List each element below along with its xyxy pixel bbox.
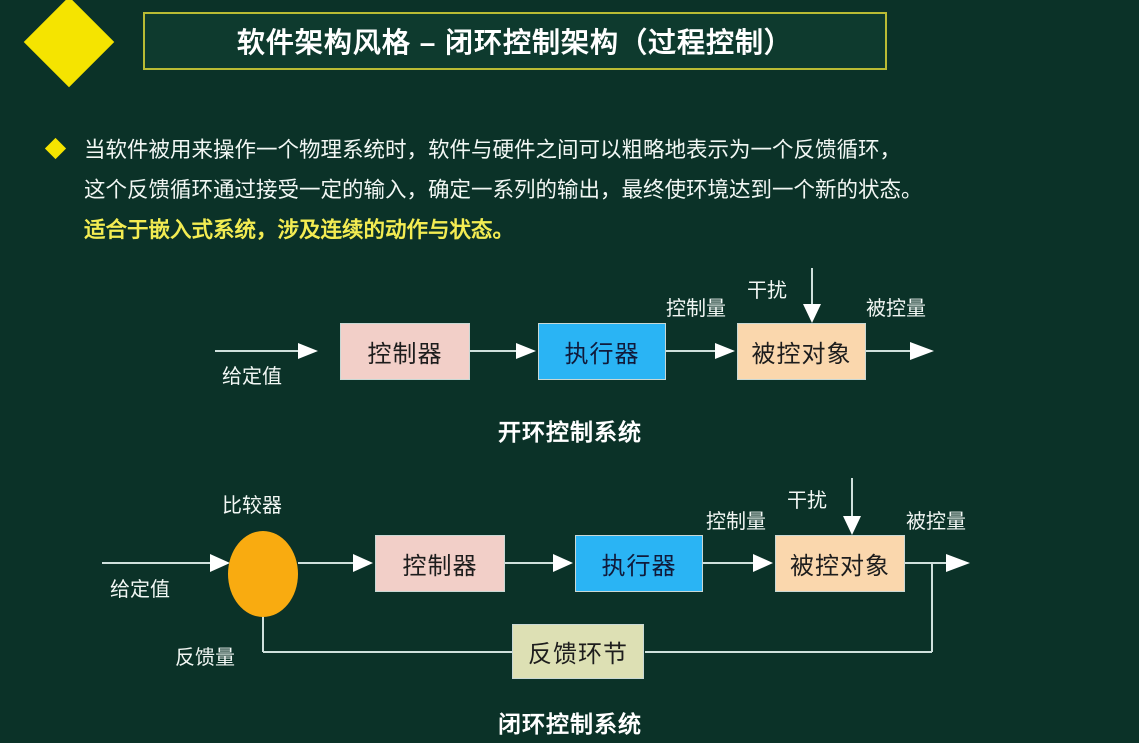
label-output: 被控量 — [906, 505, 966, 534]
paragraph-lines: 当软件被用来操作一个物理系统时，软件与硬件之间可以粗略地表示为一个反馈循环， 这… — [84, 130, 1118, 250]
slide-title-bar: 软件架构风格 – 闭环控制架构（过程控制） — [0, 6, 900, 78]
comparator-node — [228, 531, 298, 617]
arrowhead-output — [910, 342, 934, 360]
label-control-variable: 控制量 — [706, 505, 766, 534]
arrowhead-output — [946, 554, 970, 572]
closed-loop-diagram: 控制器 执行器 被控对象 反馈环节 比较器 给定值 控制量 干扰 被控量 反馈量… — [0, 468, 1139, 743]
box-plant-label: 被控对象 — [790, 546, 890, 581]
label-disturbance: 干扰 — [787, 484, 827, 513]
arrowhead-disturbance — [843, 516, 861, 535]
box-actuator-label: 执行器 — [602, 546, 677, 581]
open-loop-caption: 开环控制系统 — [498, 413, 642, 447]
box-actuator-label: 执行器 — [565, 334, 640, 369]
label-feedback-variable: 反馈量 — [175, 641, 235, 670]
arrowhead-controller-actuator — [553, 554, 573, 572]
label-control-variable: 控制量 — [666, 292, 726, 321]
bullet-paragraph: 当软件被用来操作一个物理系统时，软件与硬件之间可以粗略地表示为一个反馈循环， 这… — [48, 130, 1118, 250]
arrowhead-actuator-plant — [753, 554, 773, 572]
label-disturbance: 干扰 — [747, 274, 787, 303]
closed-loop-wires — [0, 468, 1139, 743]
paragraph-line-3: 适合于嵌入式系统，涉及连续的动作与状态。 — [84, 210, 1118, 250]
label-input: 给定值 — [110, 573, 170, 602]
diamond-bullet-icon — [45, 138, 66, 159]
box-feedback-element: 反馈环节 — [512, 624, 644, 679]
arrowhead-input — [210, 554, 230, 572]
title-box: 软件架构风格 – 闭环控制架构（过程控制） — [143, 12, 887, 70]
arrowhead-disturbance — [803, 304, 821, 323]
box-plant: 被控对象 — [775, 535, 905, 592]
box-feedback-label: 反馈环节 — [528, 634, 628, 669]
box-controller-label: 控制器 — [403, 546, 478, 581]
label-input: 给定值 — [222, 360, 282, 389]
closed-loop-caption: 闭环控制系统 — [498, 705, 642, 739]
label-comparator: 比较器 — [222, 489, 282, 518]
paragraph-line-1: 当软件被用来操作一个物理系统时，软件与硬件之间可以粗略地表示为一个反馈循环， — [84, 130, 1118, 170]
page-title: 软件架构风格 – 闭环控制架构（过程控制） — [237, 21, 793, 61]
slide-canvas: 软件架构风格 – 闭环控制架构（过程控制） 当软件被用来操作一个物理系统时，软件… — [0, 0, 1139, 743]
arrowhead-controller-actuator — [516, 343, 536, 359]
box-controller: 控制器 — [340, 323, 470, 380]
box-actuator: 执行器 — [538, 323, 666, 380]
paragraph-line-2: 这个反馈循环通过接受一定的输入，确定一系列的输出，最终使环境达到一个新的状态。 — [84, 170, 1118, 210]
arrowhead-actuator-plant — [715, 343, 735, 359]
arrowhead-input — [298, 343, 318, 359]
box-actuator: 执行器 — [575, 535, 703, 592]
label-output: 被控量 — [866, 292, 926, 321]
arrowhead-comparator-controller — [353, 554, 373, 572]
title-diamond-icon — [24, 0, 115, 87]
box-controller-label: 控制器 — [368, 334, 443, 369]
open-loop-diagram: 控制器 执行器 被控对象 给定值 控制量 干扰 被控量 开环控制系统 — [0, 258, 1139, 448]
box-plant-label: 被控对象 — [752, 334, 852, 369]
box-controller: 控制器 — [375, 535, 505, 592]
box-plant: 被控对象 — [737, 323, 866, 380]
